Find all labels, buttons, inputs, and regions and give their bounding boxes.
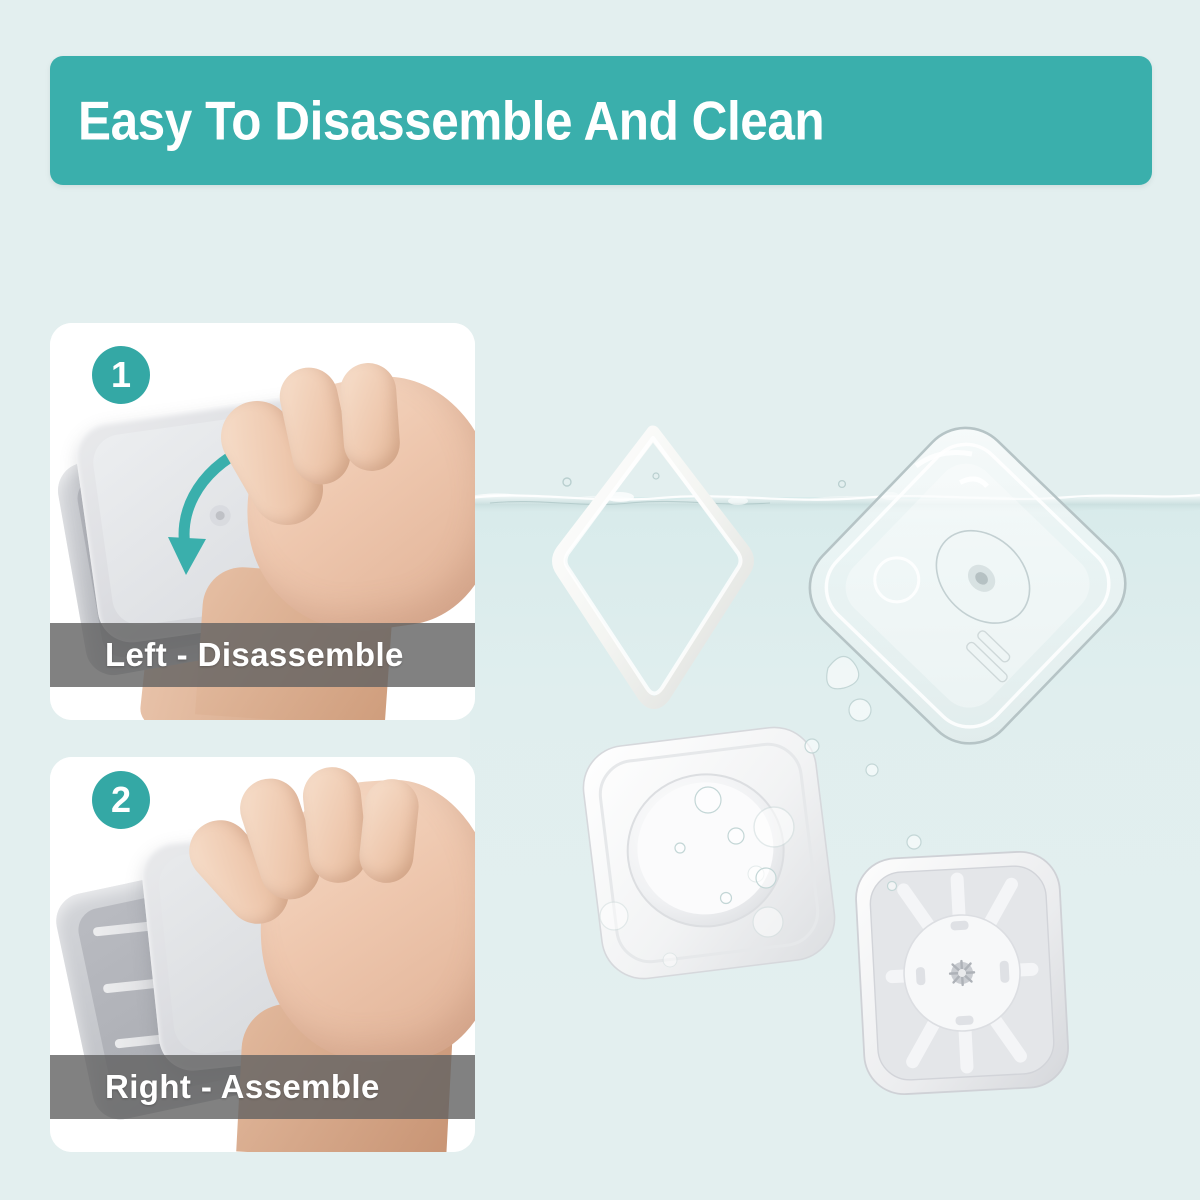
step-card-2: 2 Right - Assemble bbox=[50, 757, 475, 1152]
middle-finger bbox=[338, 361, 401, 473]
step-2-badge: 2 bbox=[92, 771, 150, 829]
water-droplets-icon bbox=[560, 560, 980, 980]
product-infographic: Easy To Disassemble And Clean bbox=[0, 0, 1200, 1200]
step-2-caption: Right - Assemble bbox=[105, 1068, 380, 1106]
step-1-caption: Left - Disassemble bbox=[105, 636, 404, 674]
step-1-badge: 1 bbox=[92, 346, 150, 404]
step-1-photo: 1 Left - Disassemble bbox=[50, 323, 475, 720]
step-2-photo: 2 Right - Assemble bbox=[50, 757, 475, 1152]
step-card-1: 1 Left - Disassemble bbox=[50, 323, 475, 720]
step-2-caption-bar: Right - Assemble bbox=[50, 1055, 475, 1119]
step-1-caption-bar: Left - Disassemble bbox=[50, 623, 475, 687]
